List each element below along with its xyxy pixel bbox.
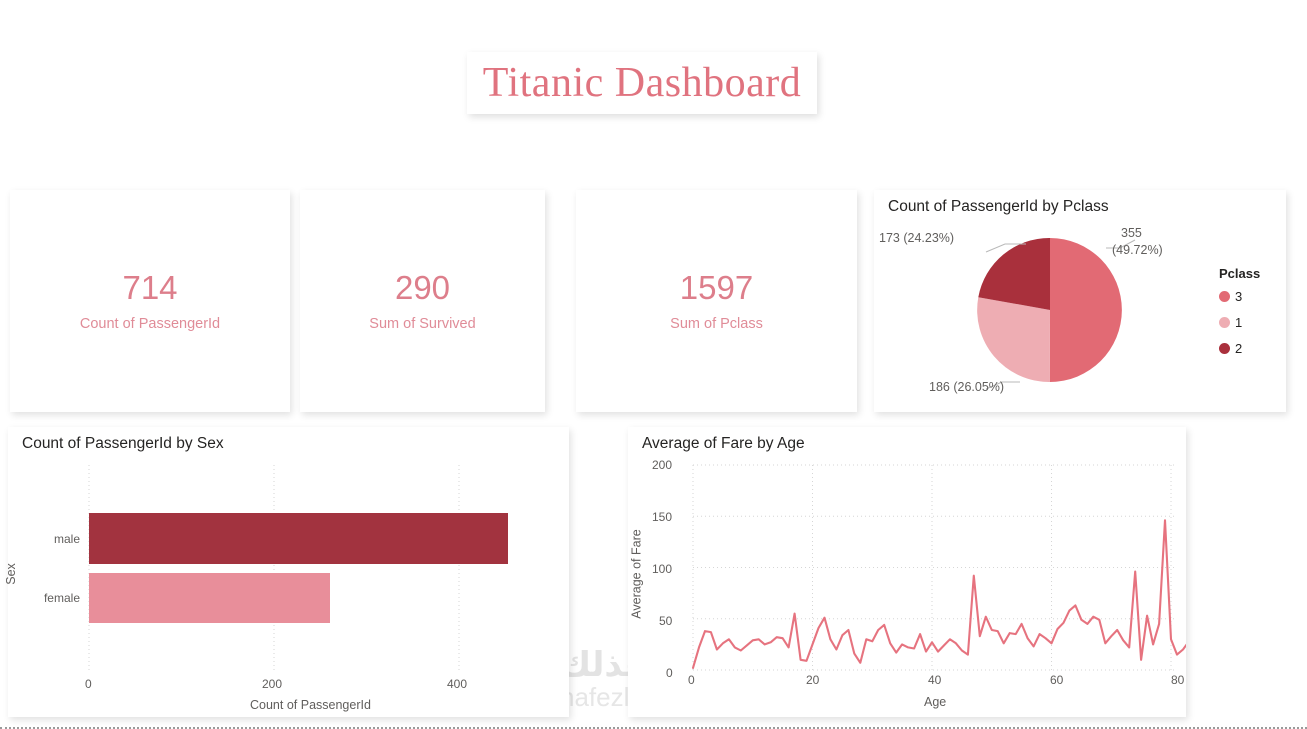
dashboard-canvas: نفذلك nafezlu.com Titanic Dashboard 714 …: [0, 0, 1307, 729]
legend-label: 1: [1235, 315, 1242, 330]
line-x-tick-20: 20: [806, 673, 819, 687]
line-y-tick-150: 150: [652, 510, 672, 524]
dashboard-title-card: Titanic Dashboard: [467, 52, 817, 114]
bar-category-label-male: male: [28, 532, 80, 546]
bar-male: [89, 513, 508, 564]
line-x-tick-0: 0: [688, 673, 695, 687]
pie-callout-pclass-3-percent: (49.72%): [1112, 243, 1163, 259]
line-x-tick-60: 60: [1050, 673, 1063, 687]
page-title: Titanic Dashboard: [483, 59, 801, 107]
pie-legend-item-3[interactable]: 3: [1219, 289, 1242, 304]
line-y-axis-title: Average of Fare: [630, 529, 644, 618]
line-y-tick-50: 50: [659, 614, 672, 628]
line-x-axis-title: Age: [924, 695, 946, 709]
bar-x-tick-400: 400: [447, 677, 467, 691]
kpi-value: 1597: [680, 271, 753, 304]
bar-x-tick-200: 200: [262, 677, 282, 691]
bar-chart-card[interactable]: Count of PassengerId by Sex male female …: [8, 427, 569, 717]
line-chart-graphic: [628, 427, 1186, 717]
kpi-value: 714: [122, 271, 177, 304]
legend-label: 2: [1235, 341, 1242, 356]
legend-label: 3: [1235, 289, 1242, 304]
legend-swatch-icon: [1219, 317, 1230, 328]
kpi-label: Count of PassengerId: [80, 316, 220, 332]
line-chart-series-path: [693, 520, 1186, 668]
bar-y-axis-title: Sex: [4, 563, 18, 585]
kpi-card-sum-survived[interactable]: 290 Sum of Survived: [300, 190, 545, 412]
kpi-card-sum-pclass[interactable]: 1597 Sum of Pclass: [576, 190, 857, 412]
kpi-value: 290: [395, 271, 450, 304]
bar-female: [89, 573, 330, 623]
kpi-label: Sum of Survived: [369, 316, 475, 332]
pie-callout-pclass-3-value: 355: [1121, 226, 1142, 242]
bar-x-axis-title: Count of PassengerId: [250, 698, 371, 712]
line-y-tick-0: 0: [666, 666, 673, 680]
bar-category-label-female: female: [18, 591, 80, 605]
pie-legend-item-1[interactable]: 1: [1219, 315, 1242, 330]
pie-callout-pclass-2: 173 (24.23%): [879, 231, 954, 247]
pie-callout-pclass-1: 186 (26.05%): [929, 380, 1004, 396]
kpi-label: Sum of Pclass: [670, 316, 763, 332]
kpi-card-count-passengerid[interactable]: 714 Count of PassengerId: [10, 190, 290, 412]
line-y-tick-200: 200: [652, 458, 672, 472]
legend-swatch-icon: [1219, 291, 1230, 302]
bar-chart-graphic: [8, 427, 569, 717]
pie-chart-card[interactable]: Count of PassengerId by Pclass 173 (24.2…: [874, 190, 1286, 412]
pie-legend-title: Pclass: [1219, 266, 1260, 281]
line-chart-card[interactable]: Average of Fare by Age 200 150 100 50 0 …: [628, 427, 1186, 717]
legend-swatch-icon: [1219, 343, 1230, 354]
pie-legend-item-2[interactable]: 2: [1219, 341, 1242, 356]
line-x-tick-80: 80: [1171, 673, 1184, 687]
line-y-tick-100: 100: [652, 562, 672, 576]
bar-x-tick-0: 0: [85, 677, 92, 691]
line-x-tick-40: 40: [928, 673, 941, 687]
